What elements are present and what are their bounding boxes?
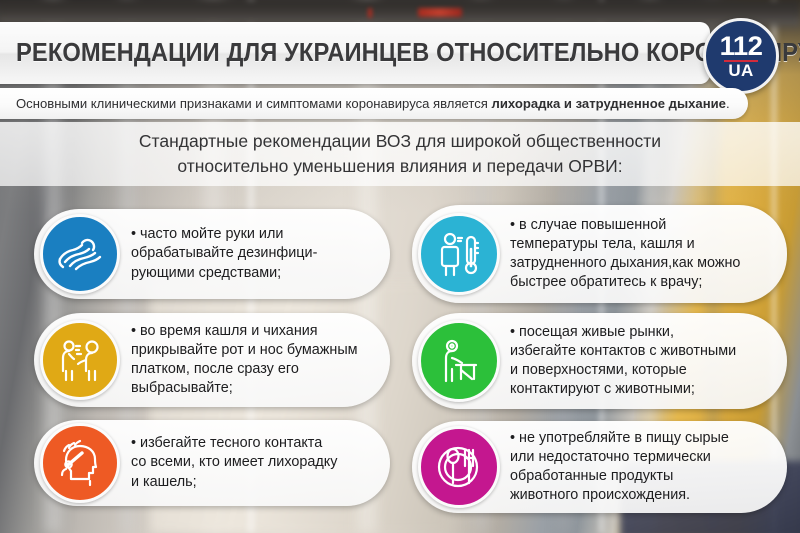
recommendation-text: • во время кашля и чихания прикрывайте р… xyxy=(131,322,358,399)
who-heading: Стандартные рекомендации ВОЗ для широкой… xyxy=(0,122,800,186)
subtitle-highlight: лихорадка и затрудненное дыхание xyxy=(492,96,726,111)
fever-head-thermometer-icon xyxy=(40,423,120,503)
recommendation-card-see-doctor[interactable]: • в случае повышенной температуры тела, … xyxy=(412,205,787,303)
plate-cutlery-icon xyxy=(418,426,500,508)
washing-hands-icon xyxy=(40,214,120,294)
person-thermometer-icon xyxy=(418,213,500,295)
recommendation-card-cover-cough[interactable]: • во время кашля и чихания прикрывайте р… xyxy=(34,313,390,407)
recommendation-card-avoid-close-contact[interactable]: • избегайте тесного контакта со всеми, к… xyxy=(34,420,390,506)
page-title: РЕКОМЕНДАЦИИ ДЛЯ УКРАИНЦЕВ ОТНОСИТЕЛЬНО … xyxy=(16,39,800,68)
subtitle-lead: Основными клиническими признаками и симп… xyxy=(16,96,492,111)
led-display-light xyxy=(418,8,462,17)
coughing-person-icon xyxy=(40,320,120,400)
subtitle-bar: Основными клиническими признаками и симп… xyxy=(0,88,748,119)
led-display-light xyxy=(368,8,372,18)
recommendation-text: • избегайте тесного контакта со всеми, к… xyxy=(131,434,337,492)
recommendation-text: • часто мойте руки или обрабатывайте дез… xyxy=(131,225,317,283)
recommendation-card-avoid-live-markets[interactable]: • посещая живые рынки, избегайте контакт… xyxy=(412,313,787,409)
recommendation-text: • не употребляйте в пищу сырые или недос… xyxy=(510,429,729,506)
infographic-poster: РЕКОМЕНДАЦИИ ДЛЯ УКРАИНЦЕВ ОТНОСИТЕЛЬНО … xyxy=(0,0,800,533)
who-heading-line-1: Стандартные рекомендации ВОЗ для широкой… xyxy=(139,129,661,154)
recommendation-card-avoid-raw-food[interactable]: • не употребляйте в пищу сырые или недос… xyxy=(412,421,787,513)
subtitle-tail: . xyxy=(726,96,730,111)
recommendation-card-wash-hands[interactable]: • часто мойте руки или обрабатывайте дез… xyxy=(34,209,390,299)
title-banner: РЕКОМЕНДАЦИИ ДЛЯ УКРАИНЦЕВ ОТНОСИТЕЛЬНО … xyxy=(0,22,710,84)
who-heading-line-2: относительно уменьшения влияния и переда… xyxy=(177,154,622,179)
subtitle-text: Основными клиническими признаками и симп… xyxy=(16,96,730,111)
logo-number: 112 xyxy=(720,34,763,58)
recommendation-text: • посещая живые рынки, избегайте контакт… xyxy=(510,323,736,400)
logo-112-ua: 112 UA xyxy=(703,18,779,94)
market-animal-contact-icon xyxy=(418,320,500,402)
recommendation-text: • в случае повышенной температуры тела, … xyxy=(510,216,740,293)
logo-country: UA xyxy=(728,63,753,79)
